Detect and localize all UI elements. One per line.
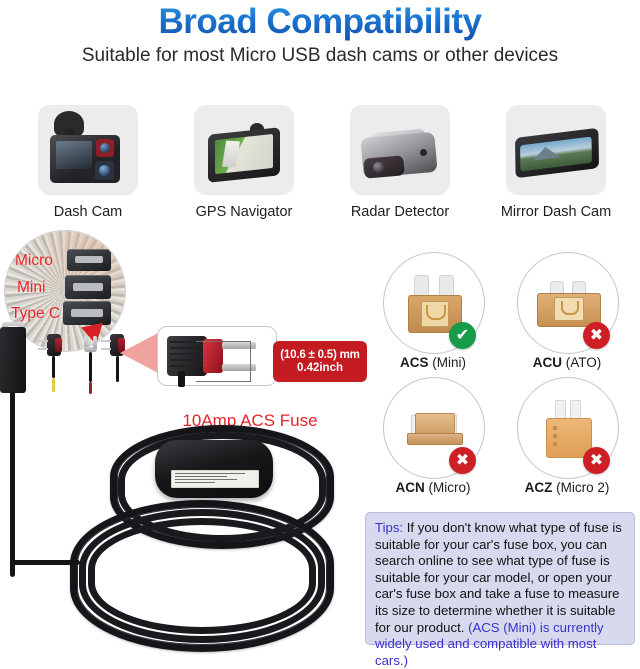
fuse-holder-label (171, 470, 259, 488)
fuse-dimension-badge: (10.6 ± 0.5) mm 0.42inch (273, 341, 367, 382)
dimension-tick-bottom (196, 381, 251, 382)
tips-panel: Tips: If you don't know what type of fus… (365, 512, 635, 645)
cable-coil-outer-3 (88, 518, 316, 634)
tips-keyword: Tips: (375, 520, 403, 535)
type-c-slot (71, 309, 103, 317)
usb-connector (0, 327, 26, 393)
fuse-tap-left-pin-bottom (38, 348, 48, 350)
mini-usb-slot (73, 283, 103, 291)
cable-lead (10, 392, 15, 577)
fuse-dimension-mm: (10.6 ± 0.5) mm (273, 349, 367, 361)
check-icon: ✔ (449, 322, 476, 349)
fuse-tap-right-pin-bottom (101, 348, 111, 350)
fuse-type-acs-name: ACS (Mini) (366, 355, 500, 370)
micro-usb-slot (75, 256, 103, 263)
device-card-mirror-dash-cam: Mirror Dash Cam (486, 105, 626, 227)
dimension-guide-line (250, 341, 251, 382)
fuse-variant: (ATO) (566, 355, 602, 370)
ato-fuse-icon (537, 281, 599, 325)
device-card-gps-navigator: GPS Navigator (174, 105, 314, 227)
fuse-type-acz: ✖ ACZ (Micro 2) (500, 377, 634, 502)
harness-wire-red (89, 382, 92, 394)
fuse-code: ACZ (525, 480, 553, 495)
fuse-type-acu-circle: ✖ (517, 252, 619, 354)
fuse-variant: (Micro 2) (556, 480, 609, 495)
device-card-list: Dash Cam GPS Navigator Radar Detector Mi… (18, 105, 626, 227)
connector-label-mini: Mini (17, 279, 45, 297)
mirror-dash-cam-icon (506, 105, 606, 195)
micro2-fuse-icon (544, 400, 592, 456)
device-card-label: Dash Cam (54, 204, 123, 220)
fuse-type-acu: ✖ ACU (ATO) (500, 252, 634, 377)
harness-wire-2 (89, 352, 92, 382)
fuse-type-acu-name: ACU (ATO) (500, 355, 634, 370)
harness-wire-yellow (52, 378, 55, 392)
fuse-type-acn-name: ACN (Micro) (366, 480, 500, 495)
fuse-code: ACS (400, 355, 429, 370)
fuse-code: ACN (395, 480, 424, 495)
fuse-type-acs: ✔ ACS (Mini) (366, 252, 500, 377)
device-card-radar-detector: Radar Detector (330, 105, 470, 227)
ring-terminal (84, 336, 97, 352)
fuse-type-acn-circle: ✖ (383, 377, 485, 479)
tips-body: If you don't know what type of fuse is s… (375, 520, 622, 635)
fuse-code: ACU (533, 355, 562, 370)
connector-label-type-c: Type C (11, 305, 60, 323)
device-card-label: Radar Detector (351, 204, 449, 220)
gps-navigator-icon (194, 105, 294, 195)
harness-wire-1 (52, 356, 55, 378)
fuse-variant: (Micro) (429, 480, 471, 495)
fuse-type-acz-circle: ✖ (517, 377, 619, 479)
fuse-type-acs-circle: ✔ (383, 252, 485, 354)
fuse-tap-left-pin-top (38, 340, 48, 342)
radar-detector-icon (350, 105, 450, 195)
cross-icon: ✖ (583, 447, 610, 474)
fuse-tap-right-pin-top (101, 340, 111, 342)
fuse-dimension-inch: 0.42inch (273, 362, 367, 374)
fuse-tap-left-fuse (55, 338, 62, 352)
fuse-type-acz-name: ACZ (Micro 2) (500, 480, 634, 495)
pointer-arrow-icon (120, 333, 158, 373)
dimension-tick-top (196, 341, 251, 342)
dash-cam-icon (38, 105, 138, 195)
mini-fuse-icon (408, 275, 460, 331)
harness-wire-3 (116, 356, 119, 382)
cross-icon: ✖ (583, 322, 610, 349)
fuse-variant: (Mini) (432, 355, 466, 370)
page-title: Broad Compatibility (0, 2, 640, 42)
page-subtitle: Suitable for most Micro USB dash cams or… (0, 45, 640, 67)
device-card-label: Mirror Dash Cam (501, 204, 611, 220)
cross-icon: ✖ (449, 447, 476, 474)
fuse-type-acn: ✖ ACN (Micro) (366, 377, 500, 502)
product-infographic: Broad Compatibility Suitable for most Mi… (0, 0, 640, 661)
cable-lead-bend (10, 560, 80, 565)
connector-label-micro: Micro (15, 252, 53, 270)
fuse-holder-box (155, 440, 273, 498)
fuse-dimension-callout (157, 326, 277, 386)
micro-fuse-icon (407, 413, 461, 443)
device-card-label: GPS Navigator (196, 204, 293, 220)
fuse-type-grid: ✔ ACS (Mini) ✖ ACU (ATO) (366, 252, 634, 502)
device-card-dash-cam: Dash Cam (18, 105, 158, 227)
